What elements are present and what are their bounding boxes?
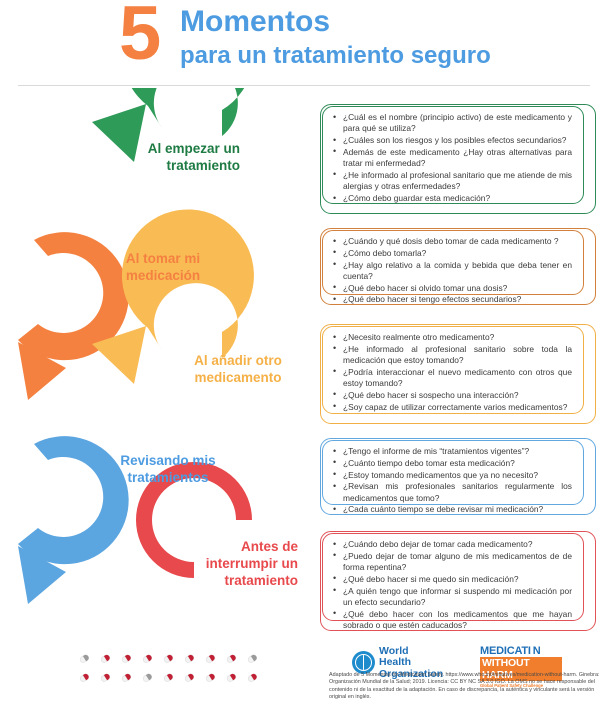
list-item: ¿Cuándo debo dejar de tomar cada medicam… [343,539,574,550]
who-emblem-icon [352,651,375,674]
list-item: ¿Necesito realmente otro medicamento? [343,332,574,343]
list-item: ¿Soy capaz de utilizar correctamente var… [343,402,574,413]
list-item: ¿Qué debo hacer si sospecho una interacc… [343,390,574,401]
mwh-logo-line1: MEDICATI N [480,645,562,657]
list-item: ¿Puedo dejar de tomar alguno de mis medi… [343,551,574,574]
question-box-al-anadir: ¿Necesito realmente otro medicamento? ¿H… [316,320,592,420]
footer: World Health Organization MEDICATI N WIT… [0,640,608,720]
box-inner: ¿Necesito realmente otro medicamento? ¿H… [322,326,584,414]
step-label-revisando-mis-tratamientos: Revisando mis tratamientos [108,452,228,486]
list-item: Además de este medicamento ¿Hay otras al… [343,147,574,170]
page-title: Momentos para un tratamiento seguro [180,5,491,71]
question-box-revisando: ¿Tengo el informe de mis “tratamientos v… [316,434,592,511]
question-list: ¿Cuándo y qué dosis debo tomar de cada m… [330,236,574,306]
question-list: ¿Cuál es el nombre (principio activo) de… [330,112,574,204]
step-label-al-empezar-un-tratamiento: Al empezar un tratamiento [120,140,240,174]
question-box-al-tomar: ¿Cuándo y qué dosis debo tomar de cada m… [316,224,592,301]
list-item: ¿Qué debo hacer si olvido tomar una dosi… [343,283,574,294]
pills-illustration [78,650,264,692]
credit-text: Adaptado de 5 Momentos for Medication Sa… [329,672,601,702]
list-item: ¿Cuáles son los riesgos y los posibles e… [343,135,574,146]
credit-paragraph: Adaptado de 5 Momentos for Medication Sa… [329,672,601,702]
list-item: ¿He informado al profesional sanitario s… [343,344,574,367]
box-inner: ¿Cuándo y qué dosis debo tomar de cada m… [322,230,584,295]
step-label-al-anadir-otro-medicamento: Al añadir otro medicamento [178,352,298,386]
list-item: ¿Tengo el informe de mis “tratamientos v… [343,446,574,457]
infographic-page: 5 Momentos para un tratamiento seguro [0,0,608,720]
list-item: ¿Podría interaccionar el nuevo medicamen… [343,367,574,390]
list-item: ¿Revisan mis profesionales sanitarios re… [343,481,574,504]
list-item: ¿Cómo debo tomarla? [343,248,574,259]
list-item: ¿Qué debo hacer con los medicamentos que… [343,609,574,632]
header-divider [18,85,590,86]
list-item: ¿A quién tengo que informar si suspendo … [343,586,574,609]
list-item: ¿Qué debo hacer si me quedo sin medicaci… [343,574,574,585]
box-inner: ¿Cuál es el nombre (principio activo) de… [322,106,584,204]
question-list: ¿Cuándo debo dejar de tomar cada medicam… [330,539,574,631]
page-title-line1: Momentos [180,5,491,39]
page-title-number: 5 [119,0,159,72]
list-item: ¿Cuál es el nombre (principio activo) de… [343,112,574,135]
step-label-antes-de-interrumpir-un-tratamiento: Antes de interrumpir un tratamiento [168,538,298,589]
box-inner: ¿Cuándo debo dejar de tomar cada medicam… [322,533,584,621]
question-box-antes-de-interrumpir: ¿Cuándo debo dejar de tomar cada medicam… [316,527,592,627]
header: 5 Momentos para un tratamiento seguro [0,0,608,86]
step-label-al-tomar-mi-medicacion: Al tomar mi medicación [108,250,218,284]
page-title-line2: para un tratamiento seguro [180,41,491,71]
list-item: ¿Estoy tomando medicamentos que ya no ne… [343,470,574,481]
list-item: ¿Cuándo y qué dosis debo tomar de cada m… [343,236,574,247]
list-item: ¿Cómo debo guardar esta medicación? [343,193,574,204]
list-item: ¿Hay algo relativo a la comida y bebida … [343,260,574,283]
who-logo-line1: World Health [379,646,443,669]
question-box-al-empezar: ¿Cuál es el nombre (principio activo) de… [316,100,592,210]
list-item: ¿Cada cuánto tiempo se debe revisar mi m… [343,504,574,515]
list-item: ¿Cuánto tiempo debo tomar esta medicació… [343,458,574,469]
question-list: ¿Necesito realmente otro medicamento? ¿H… [330,332,574,413]
list-item: ¿Qué debo hacer si tengo efectos secunda… [343,294,574,305]
question-list: ¿Tengo el informe de mis “tratamientos v… [330,446,574,516]
box-inner: ¿Tengo el informe de mis “tratamientos v… [322,440,584,505]
list-item: ¿He informado al profesional sanitario q… [343,170,574,193]
